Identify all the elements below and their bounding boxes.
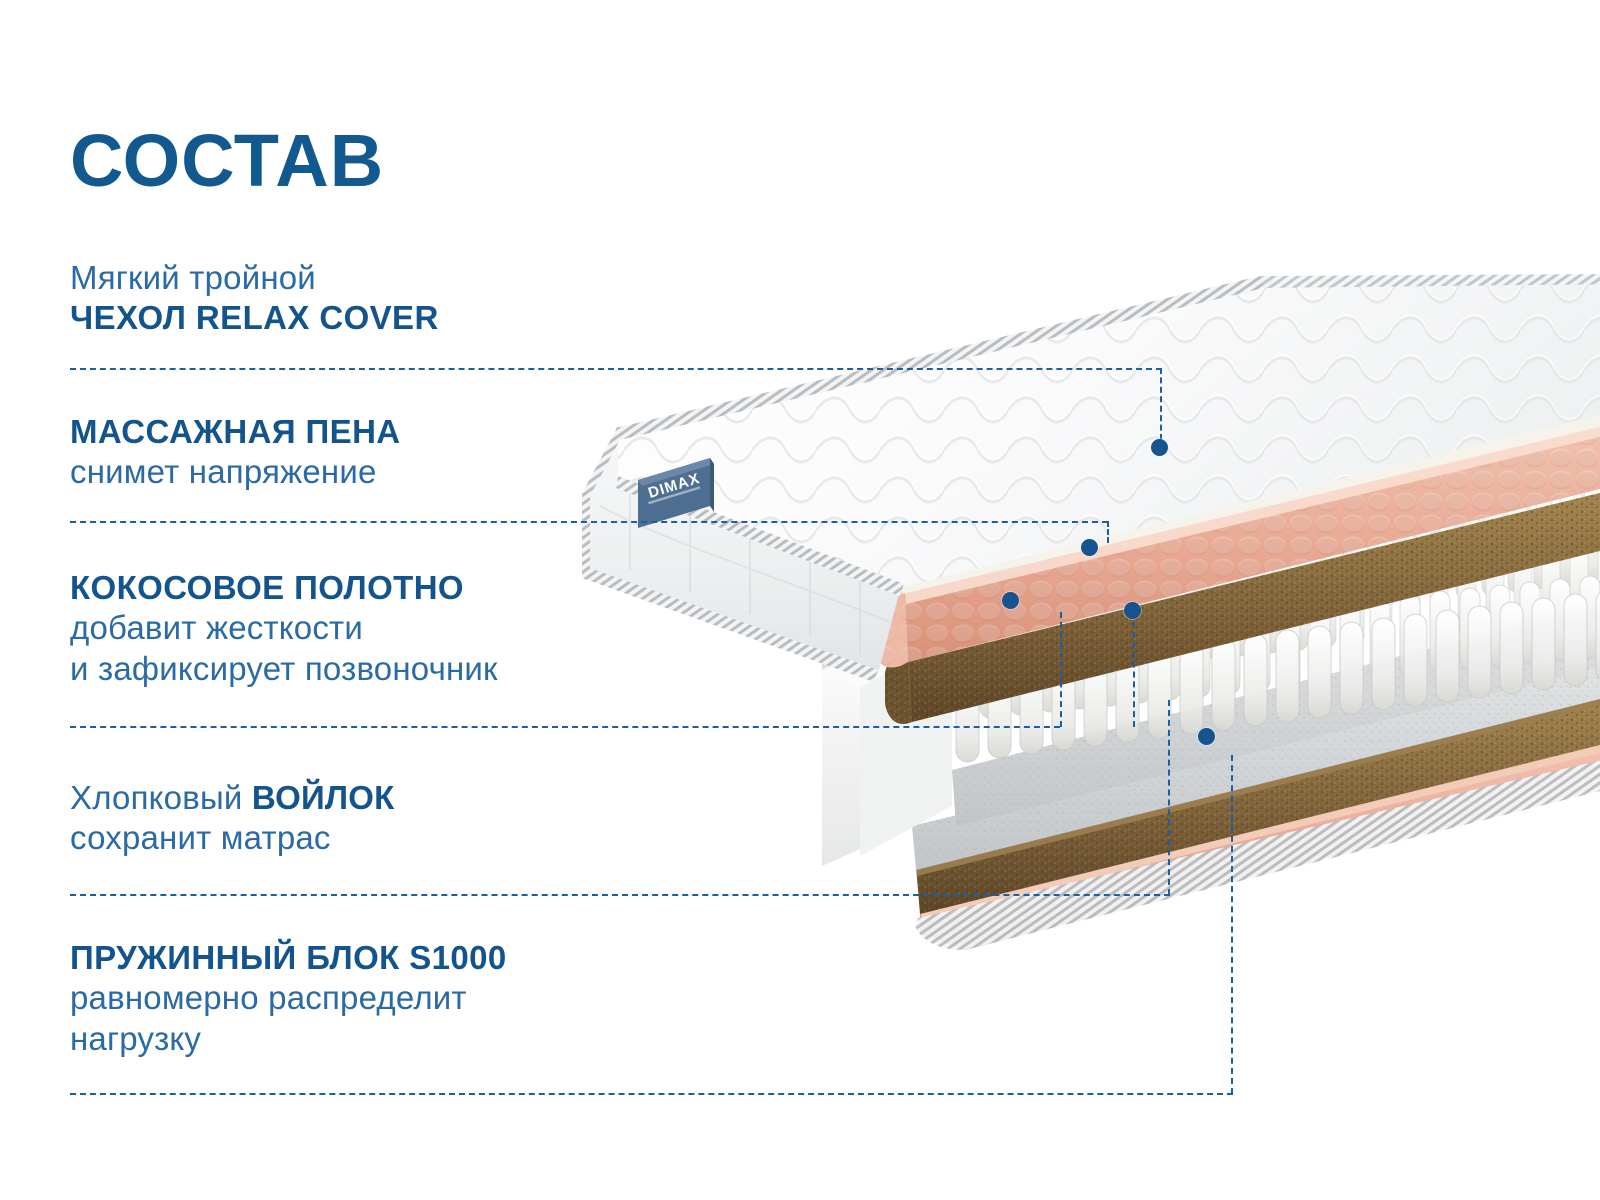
callout-coconut-coir-line2: добавит жесткости	[70, 608, 498, 648]
callout-coconut-coir: КОКОСОВОЕ ПОЛОТНО добавит жесткости и за…	[70, 568, 498, 689]
connector-vline-spring-block	[1231, 755, 1233, 1094]
connector-line-spring-block	[70, 1093, 1233, 1095]
callout-spring-block-line1: ПРУЖИННЫЙ БЛОК S1000	[70, 938, 507, 978]
connector-line-massage-foam	[70, 521, 1108, 523]
connector-line-coconut-coir	[70, 726, 1060, 728]
callout-dot-coconut-coir	[1002, 592, 1019, 609]
connector-vline-cotton-felt	[1168, 700, 1170, 895]
callout-coconut-coir-line1: КОКОСОВОЕ ПОЛОТНО	[70, 568, 498, 608]
callout-dot-coconut-coir-b	[1124, 602, 1141, 619]
connector-vline-coconut-coir-b	[1133, 622, 1135, 727]
connector-line-relax-cover	[70, 368, 1162, 370]
callout-relax-cover-line2: ЧЕХОЛ RELAX COVER	[70, 298, 439, 338]
callout-massage-foam-line2: снимет напряжение	[70, 452, 401, 492]
callout-dot-relax-cover	[1151, 439, 1168, 456]
callout-cotton-felt-line1: Хлопковый ВОЙЛОК	[70, 778, 394, 818]
callout-massage-foam: МАССАЖНАЯ ПЕНА снимет напряжение	[70, 412, 401, 493]
callout-cotton-felt-line1-bold: ВОЙЛОК	[252, 779, 395, 816]
callout-cotton-felt-line2: сохранит матрас	[70, 818, 394, 858]
callout-dot-massage-foam	[1081, 539, 1098, 556]
infographic-canvas: DIMAX СОСТАВ Мягкий тройной ЧЕХОЛ RELAX …	[0, 0, 1600, 1200]
callout-cotton-felt-line1-pre: Хлопковый	[70, 779, 252, 816]
callout-dot-spring-block	[1198, 728, 1215, 745]
connector-line-cotton-felt	[70, 894, 1170, 896]
mattress-illustration: DIMAX	[560, 270, 1600, 950]
callout-massage-foam-line1: МАССАЖНАЯ ПЕНА	[70, 412, 401, 452]
callout-spring-block-line2: равномерно распределит	[70, 978, 507, 1018]
callout-relax-cover: Мягкий тройной ЧЕХОЛ RELAX COVER	[70, 258, 439, 339]
callout-spring-block-line3: нагрузку	[70, 1019, 507, 1059]
connector-vline-relax-cover	[1160, 368, 1162, 440]
callout-spring-block: ПРУЖИННЫЙ БЛОК S1000 равномерно распреде…	[70, 938, 507, 1059]
callout-coconut-coir-line3: и зафиксирует позвоночник	[70, 649, 498, 689]
connector-vline-coconut-coir	[1060, 612, 1062, 727]
callout-cotton-felt: Хлопковый ВОЙЛОК сохранит матрас	[70, 778, 394, 859]
page-title: СОСТАВ	[70, 124, 384, 198]
callout-relax-cover-line1: Мягкий тройной	[70, 258, 439, 298]
connector-vline-massage-foam	[1107, 521, 1109, 543]
